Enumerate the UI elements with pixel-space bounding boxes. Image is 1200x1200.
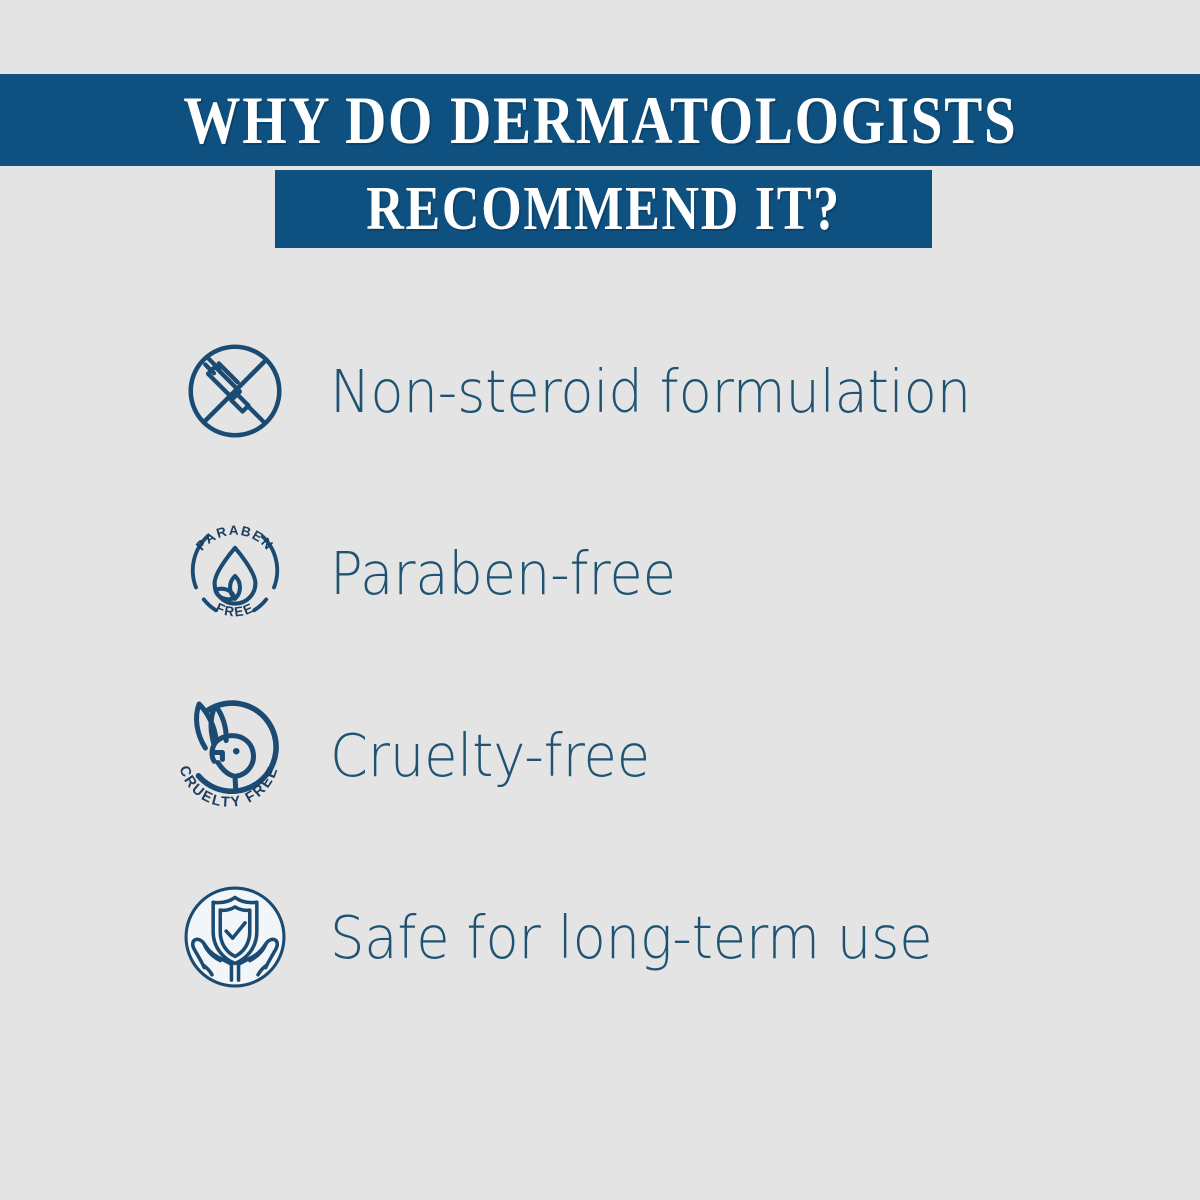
heading-banner-line-2: RECOMMEND IT? <box>275 170 932 248</box>
heading-line-1-text: WHY DO DERMATOLOGISTS <box>183 81 1017 160</box>
heading-line-2-text: RECOMMEND IT? <box>366 174 841 245</box>
cruelty-free-arc-label: CRUELTY FREE <box>175 764 281 811</box>
shield-in-hands-icon <box>150 878 320 996</box>
heading-banner-line-1: WHY DO DERMATOLOGISTS <box>0 74 1200 166</box>
feature-row: CRUELTY FREE Cruelty-free <box>0 664 1200 846</box>
paraben-free-droplet-icon: PARABEN FREE <box>150 513 320 633</box>
feature-label: Non-steroid formulation <box>330 357 971 426</box>
feature-label: Cruelty-free <box>330 721 650 790</box>
feature-row: PARABEN FREE Paraben-free <box>0 482 1200 664</box>
cruelty-free-rabbit-icon: CRUELTY FREE <box>150 692 320 818</box>
feature-label: Safe for long-term use <box>330 903 932 972</box>
feature-label: Paraben-free <box>330 539 676 608</box>
no-syringe-icon <box>150 337 320 445</box>
feature-list: Non-steroid formulation <box>0 300 1200 1028</box>
feature-row: Safe for long-term use <box>0 846 1200 1028</box>
feature-row: Non-steroid formulation <box>0 300 1200 482</box>
